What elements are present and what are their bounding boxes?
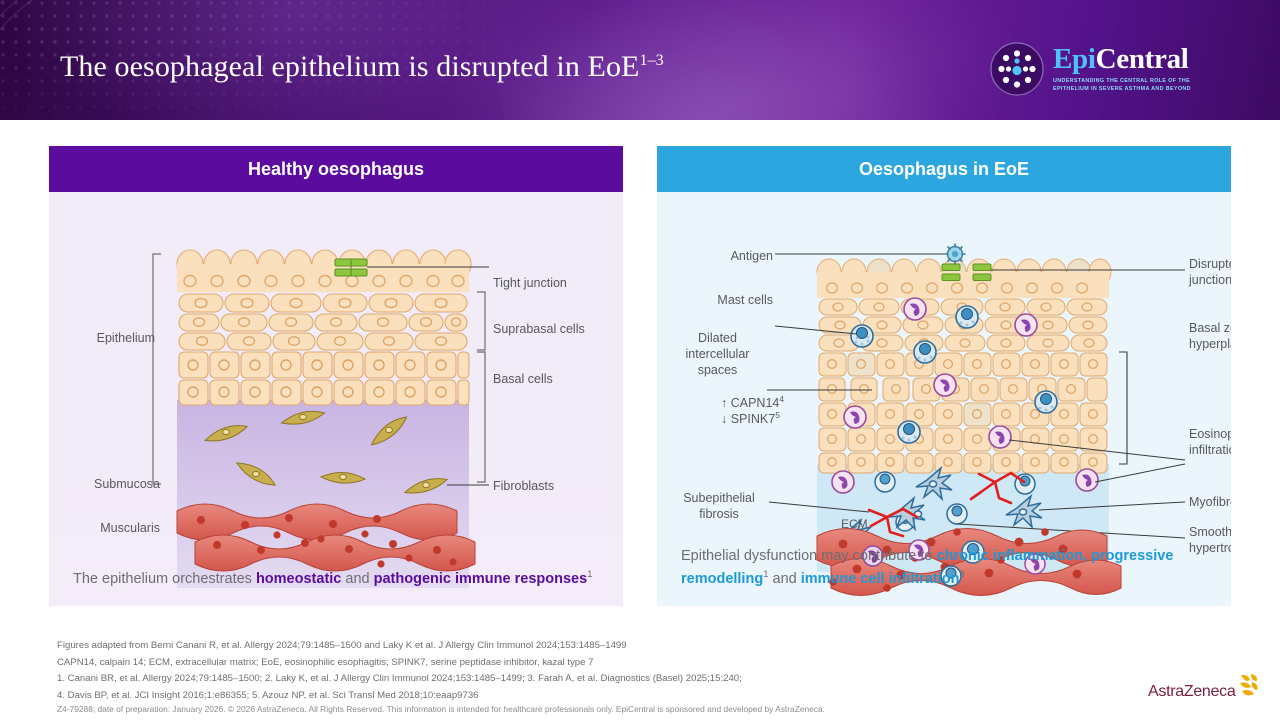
epithelium-bracket [153, 254, 161, 484]
panel-healthy-body: Epithelium Tight junction Suprabasal cel… [49, 192, 623, 606]
panel-eoe-header: Oesophagus in EoE [657, 146, 1231, 192]
footnote-source: Figures adapted from Berni Canani R, et … [57, 638, 1087, 655]
mast-cell [1035, 391, 1057, 413]
suprabasal-bracket [477, 292, 485, 350]
logo-word-epi: Epi [1053, 43, 1096, 75]
panel-oesophagus-in-eoe: Oesophagus in EoE [657, 146, 1231, 606]
legal-disclaimer: Z4-79288; date of preparation: January 2… [57, 704, 1087, 714]
basal-bracket [477, 352, 485, 482]
astrazeneca-logo: AstraZeneca [1148, 672, 1262, 701]
caption-part2: and [341, 571, 373, 587]
label-antigen: Antigen [677, 248, 773, 264]
logo-word-central: Central [1096, 43, 1189, 75]
label-epithelium: Epithelium [55, 330, 155, 346]
eosinophil [832, 471, 854, 493]
eosinophil [904, 298, 926, 320]
eosinophil [1076, 469, 1098, 491]
mast-cell [851, 325, 873, 347]
astrazeneca-wordmark: AstraZeneca [1148, 683, 1235, 701]
page-title: The oesophageal epithelium is disrupted … [60, 50, 664, 84]
label-dilated-intercellular-spaces: Dilated intercellular spaces [665, 330, 770, 378]
panel-healthy-oesophagus: Healthy oesophagus [49, 146, 623, 606]
antigen-icon [945, 244, 965, 264]
footnotes-block: Figures adapted from Berni Canani R, et … [57, 638, 1087, 704]
basal-zone-bracket [1119, 352, 1127, 464]
epicentral-logo[interactable]: EpiCentral Understanding the central rol… [990, 38, 1240, 100]
mast-cell [956, 306, 978, 328]
label-capn14: ↑ CAPN144 [721, 394, 784, 411]
label-suprabasal-cells: Suprabasal cells [493, 321, 585, 337]
page-title-text: The oesophageal epithelium is disrupted … [60, 50, 639, 83]
label-mast-cells: Mast cells [671, 292, 773, 308]
label-muscularis: Muscularis [55, 520, 160, 536]
label-eosinophil-infiltration: Eosinophil infiltration [1189, 426, 1231, 458]
label-basal-cells: Basal cells [493, 371, 553, 387]
label-subepithelial-fibrosis: Subepithelial fibrosis [667, 490, 771, 522]
panel-eoe-body: Antigen Mast cells Dilated intercellular… [657, 192, 1231, 606]
epicentral-dot-circle-icon [990, 42, 1044, 96]
caption-bold2: pathogenic immune responses [374, 571, 588, 587]
capn14-text: ↑ CAPN14 [721, 396, 779, 410]
label-basal-zone-hyperplasia: Basal zone hyperplasia [1189, 320, 1231, 352]
healthy-oesophagus-diagram [49, 192, 623, 606]
label-disrupted-tight-junction: Disrupted tight junction [1189, 256, 1231, 288]
panel-healthy-header: Healthy oesophagus [49, 146, 623, 192]
healthy-caption: The epithelium orchestrates homeostatic … [73, 568, 605, 590]
mast-cell [875, 472, 895, 492]
eoe-caption-sup2: 3 [959, 569, 964, 580]
logo-tagline-line2: Epithelium in severe asthma and beyond [1053, 85, 1191, 93]
spink7-sup: 5 [775, 410, 780, 420]
eoe-caption-bold2: immune cell infiltration [801, 571, 960, 587]
page-title-superscript: 1–3 [639, 52, 663, 69]
label-tight-junction: Tight junction [493, 275, 567, 291]
label-spink7: ↓ SPINK75 [721, 410, 780, 427]
spink7-text: ↓ SPINK7 [721, 412, 775, 426]
astrazeneca-ribbon-icon [1236, 672, 1262, 698]
eosinophil [989, 426, 1011, 448]
label-fibroblasts: Fibroblasts [493, 478, 554, 494]
eoe-caption: Epithelial dysfunction may contribute to… [681, 545, 1213, 590]
footnote-references-1: 1. Canani BR, et al. Allergy 2024;79:148… [57, 671, 1087, 688]
label-ecm: ECM [841, 517, 868, 532]
logo-tagline-line1: Understanding the central role of the [1053, 77, 1191, 85]
eoe-caption-part1: Epithelial dysfunction may contribute to [681, 548, 937, 564]
capn14-sup: 4 [779, 394, 784, 404]
caption-superscript: 1 [587, 569, 592, 580]
mast-cell [914, 341, 936, 363]
mast-cell [947, 504, 967, 524]
header-banner: The oesophageal epithelium is disrupted … [0, 0, 1280, 120]
mast-cell [898, 421, 920, 443]
label-myofibroblasts: Myofibroblasts [1189, 494, 1231, 510]
footnote-references-2: 4. Davis BP, et al. JCI Insight 2016;1:e… [57, 688, 1087, 705]
eosinophil [1015, 314, 1037, 336]
epicentral-logo-text: EpiCentral Understanding the central rol… [1053, 45, 1191, 93]
caption-part1: The epithelium orchestrates [73, 571, 256, 587]
caption-bold1: homeostatic [256, 571, 341, 587]
eosinophil [844, 406, 866, 428]
label-submucosa: Submucosa [55, 476, 160, 492]
eosinophil [934, 374, 956, 396]
eoe-caption-part2: and [768, 571, 800, 587]
muscularis-layer [177, 504, 475, 571]
footnote-abbreviations: CAPN14, calpain 14; ECM, extracellular m… [57, 655, 1087, 672]
